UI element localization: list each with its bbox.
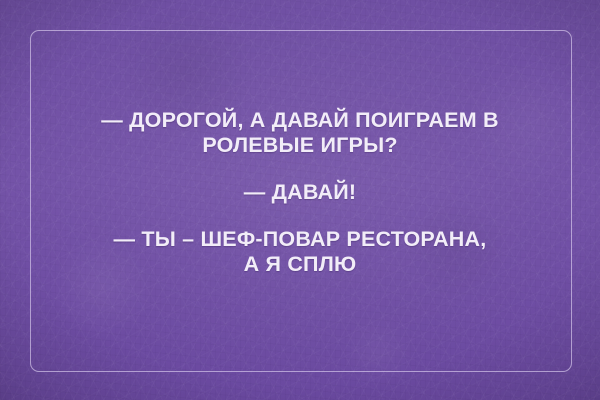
joke-card: — ДОРОГОЙ, А ДАВАЙ ПОИГРАЕМ В РОЛЕВЫЕ ИГ…	[0, 0, 600, 400]
quote-line-1: — ДОРОГОЙ, А ДАВАЙ ПОИГРАЕМ В РОЛЕВЫЕ ИГ…	[0, 108, 600, 158]
quote-block: — ДОРОГОЙ, А ДАВАЙ ПОИГРАЕМ В РОЛЕВЫЕ ИГ…	[0, 108, 600, 277]
quote-line-3: — ТЫ – ШЕФ-ПОВАР РЕСТОРАНА, А Я СПЛЮ	[0, 227, 600, 277]
quote-line-2: — ДАВАЙ!	[0, 180, 600, 205]
